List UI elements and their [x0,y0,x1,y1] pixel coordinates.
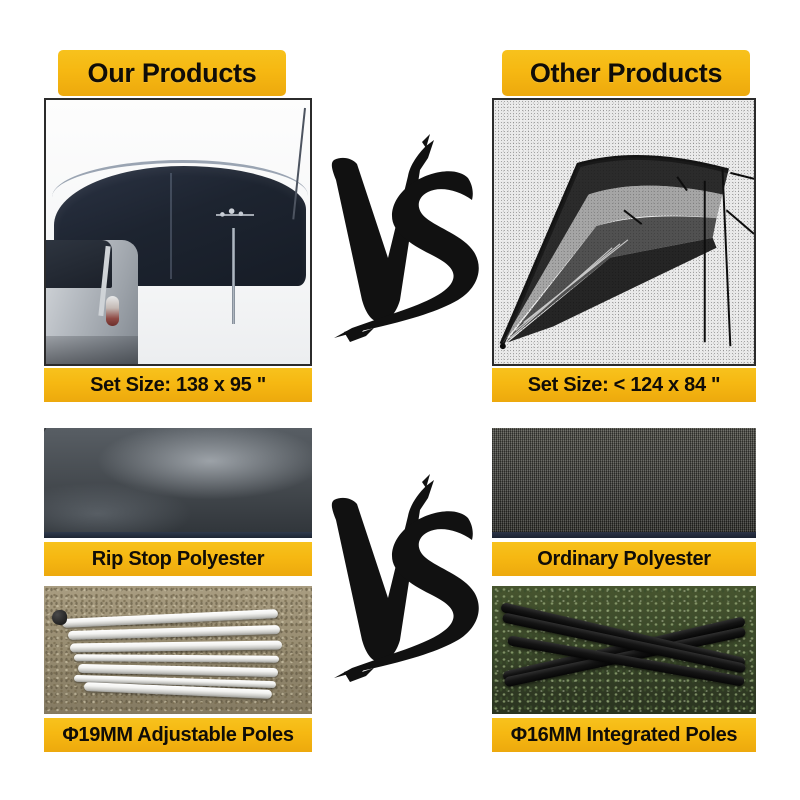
card-rip-stop-fabric [44,428,312,538]
pole-end-cap [52,610,67,625]
brand-logo-mark [214,204,256,217]
support-pole [232,228,235,324]
caption-other-set-size: Set Size: < 124 x 84 " [492,368,756,402]
car-awning-tent-photo [46,100,310,364]
caption-integrated-poles: Φ16MM Integrated Poles [492,718,756,752]
rip-stop-fabric-swatch [44,428,312,538]
vs-brush-icon [322,132,486,362]
caption-adjustable-poles: Φ19MM Adjustable Poles [44,718,312,752]
other-awning-illustration [494,100,754,364]
card-other-awning-image [492,98,756,366]
ground-shadow [46,336,138,366]
heading-other-products: Other Products [502,50,750,96]
vs-divider-size [322,132,486,362]
other-awning-lineart [494,100,754,364]
card-black-poles [492,586,756,714]
suv-tail-light [106,296,119,326]
vs-divider-poles [322,472,486,702]
pole-white-3 [70,641,282,653]
vs-brush-icon [322,472,486,702]
black-integrated-poles-photo [492,586,756,714]
caption-our-set-size: Set Size: 138 x 95 " [44,368,312,402]
ordinary-fabric-swatch [492,428,756,538]
caption-ordinary-polyester: Ordinary Polyester [492,542,756,576]
infographic-canvas: Our Products Other Products Set Size: 13… [0,0,800,800]
card-our-awning-image [44,98,312,366]
white-adjustable-poles-photo [44,586,312,714]
caption-rip-stop-polyester: Rip Stop Polyester [44,542,312,576]
card-white-poles [44,586,312,714]
pole-white-4 [74,654,279,662]
card-ordinary-fabric [492,428,756,538]
heading-our-products: Our Products [58,50,286,96]
pole-white-2 [68,625,280,640]
